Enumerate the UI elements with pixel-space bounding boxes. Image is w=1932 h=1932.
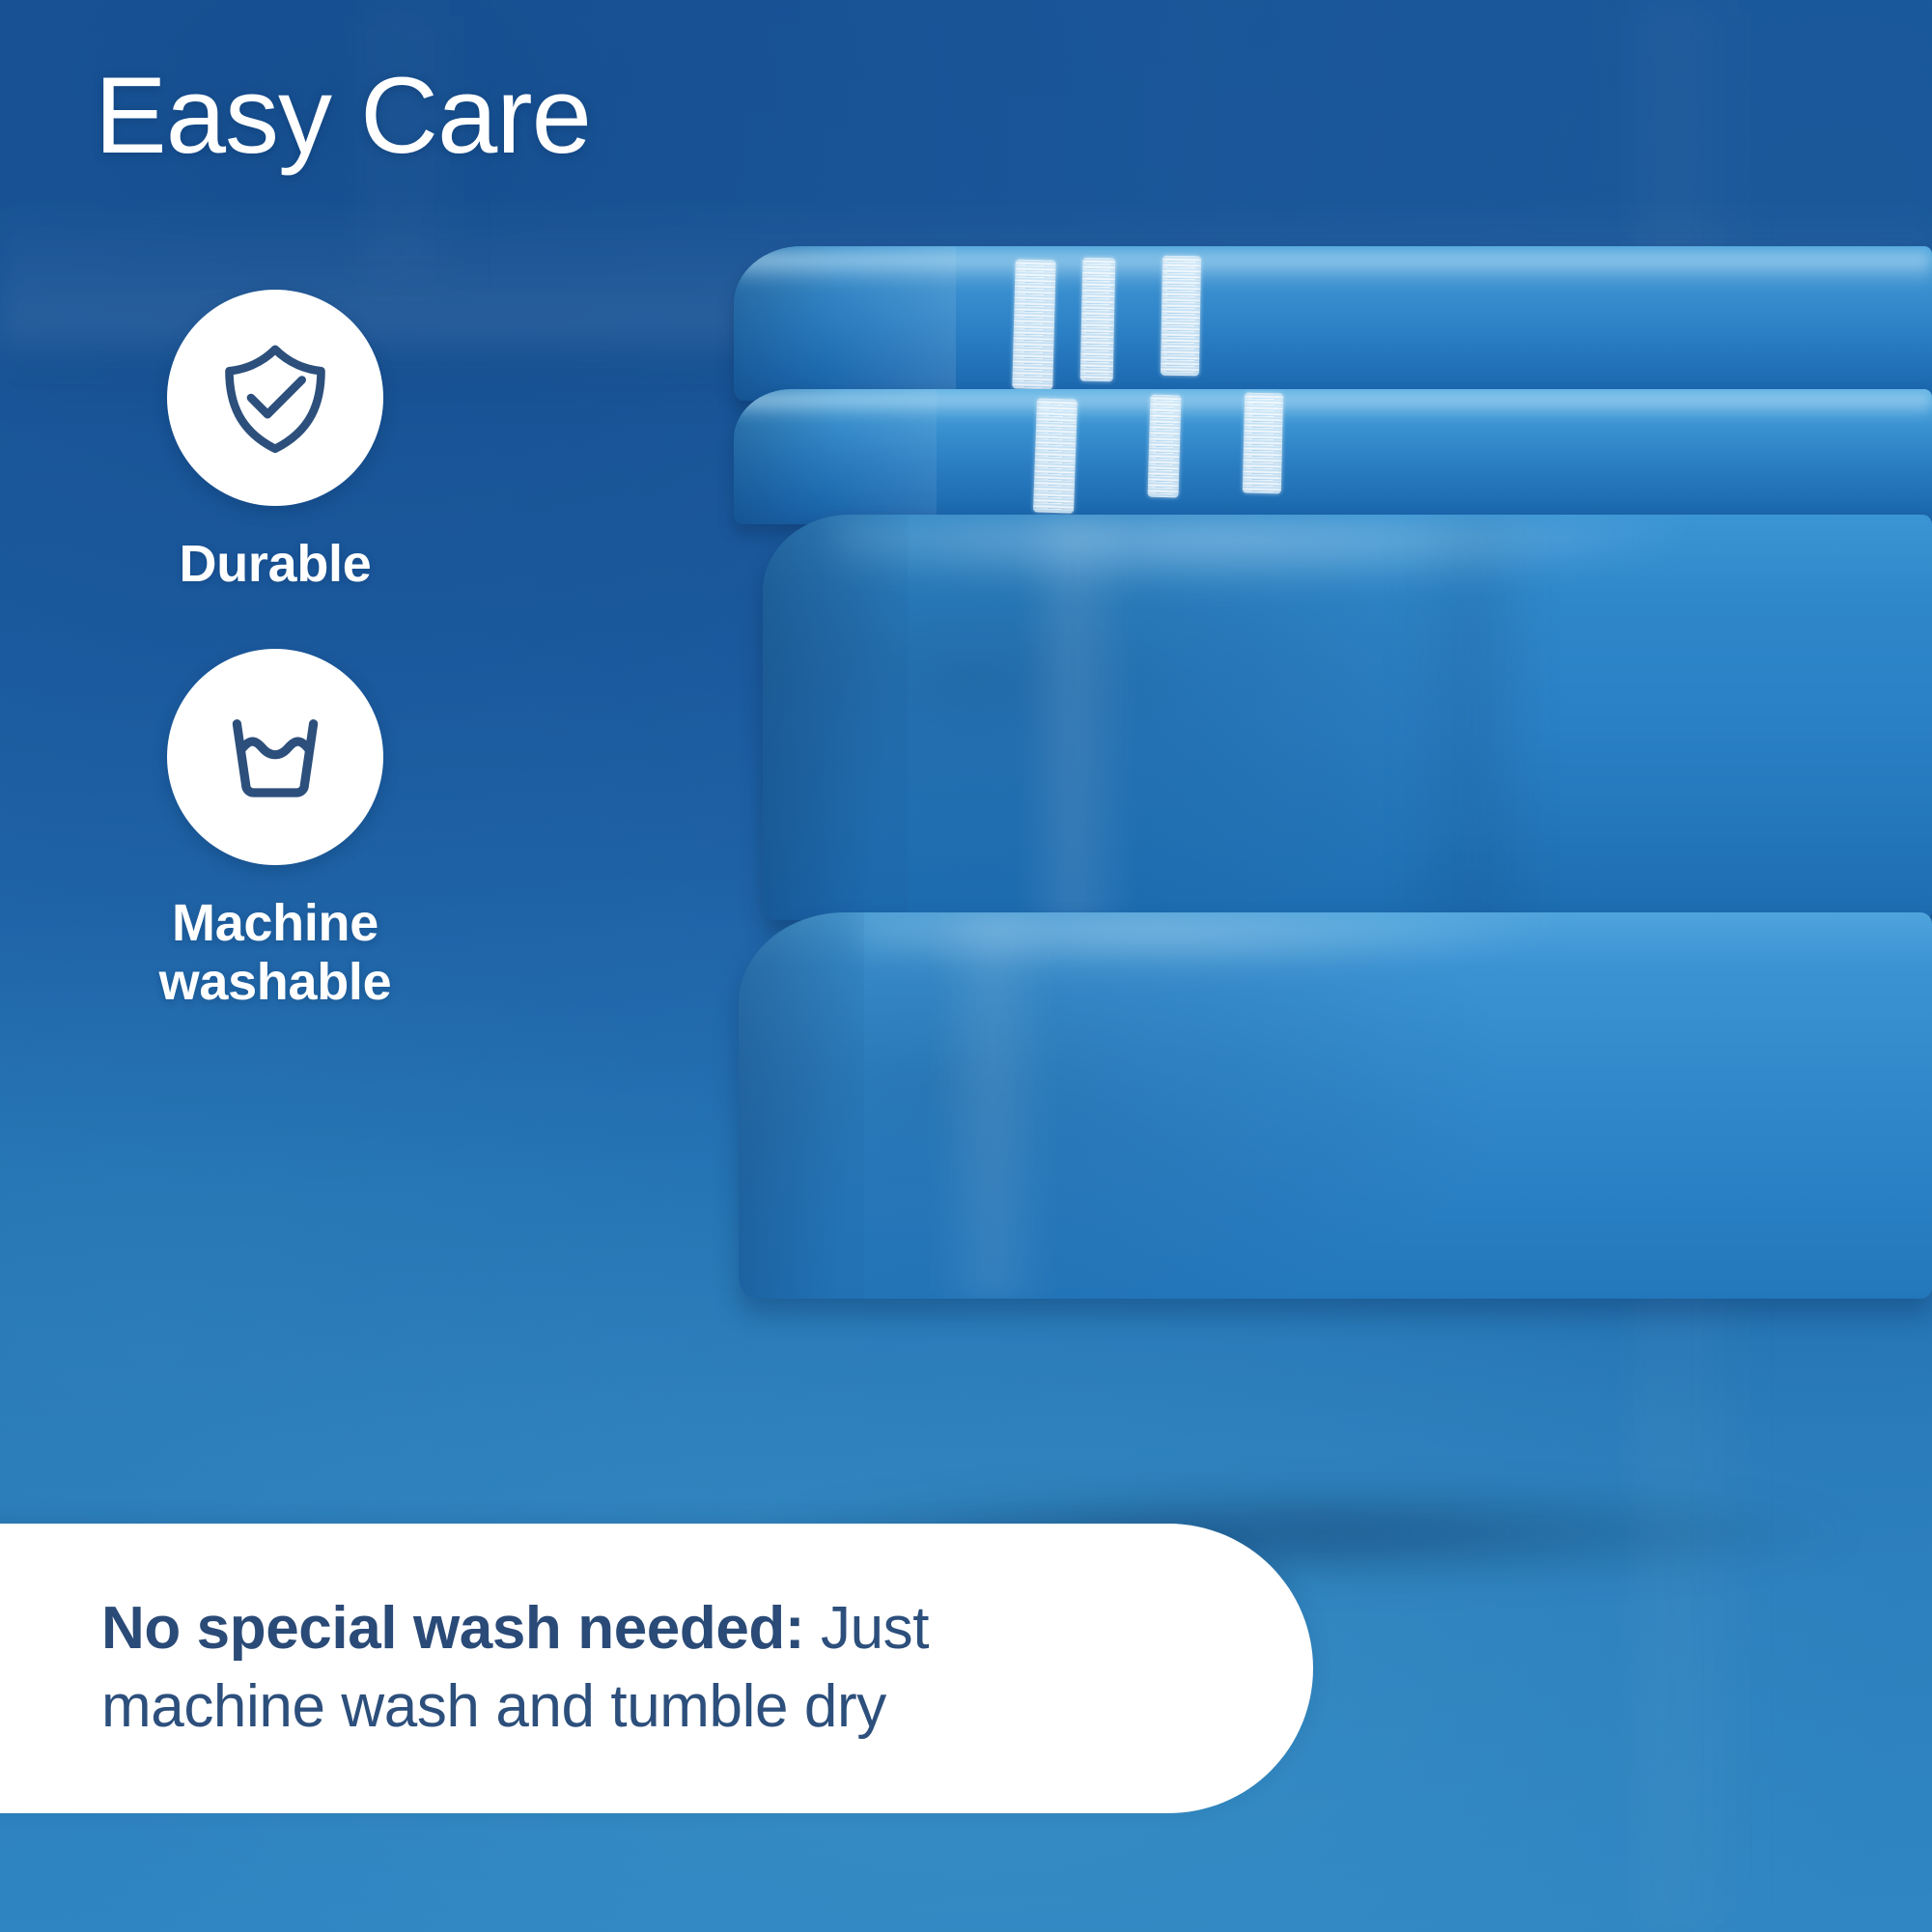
trim-band [1243, 393, 1283, 494]
trim-band [1148, 395, 1182, 498]
feature-durable: Durable [97, 290, 454, 593]
pillowcase-top [734, 246, 1932, 401]
folded-flat-sheet [763, 515, 1932, 920]
caption-banner: No special wash needed: Just machine was… [0, 1524, 1313, 1813]
feature-label-machine-washable: Machine washable [97, 894, 454, 1011]
shield-check-icon [211, 334, 339, 462]
wash-basin-icon [211, 693, 339, 821]
machine-washable-badge [167, 649, 383, 865]
caption-text: No special wash needed: Just machine was… [0, 1590, 1313, 1746]
trim-band [1080, 258, 1116, 382]
feature-label-durable: Durable [97, 535, 454, 593]
trim-band [1033, 398, 1078, 513]
poster-canvas: Easy Care Durable [0, 0, 1932, 1932]
pillowcase-second [734, 389, 1932, 524]
durable-badge [167, 290, 383, 506]
feature-machine-washable: Machine washable [97, 649, 454, 1011]
feature-list: Durable Machine washable [97, 290, 454, 1067]
trim-band [1161, 256, 1201, 377]
trim-band [1012, 259, 1055, 389]
folded-sheets-photo [734, 246, 1932, 1530]
folded-bottom-sheet [739, 912, 1932, 1299]
page-title: Easy Care [95, 58, 591, 175]
caption-bold-lead: No special wash needed: [101, 1595, 804, 1662]
